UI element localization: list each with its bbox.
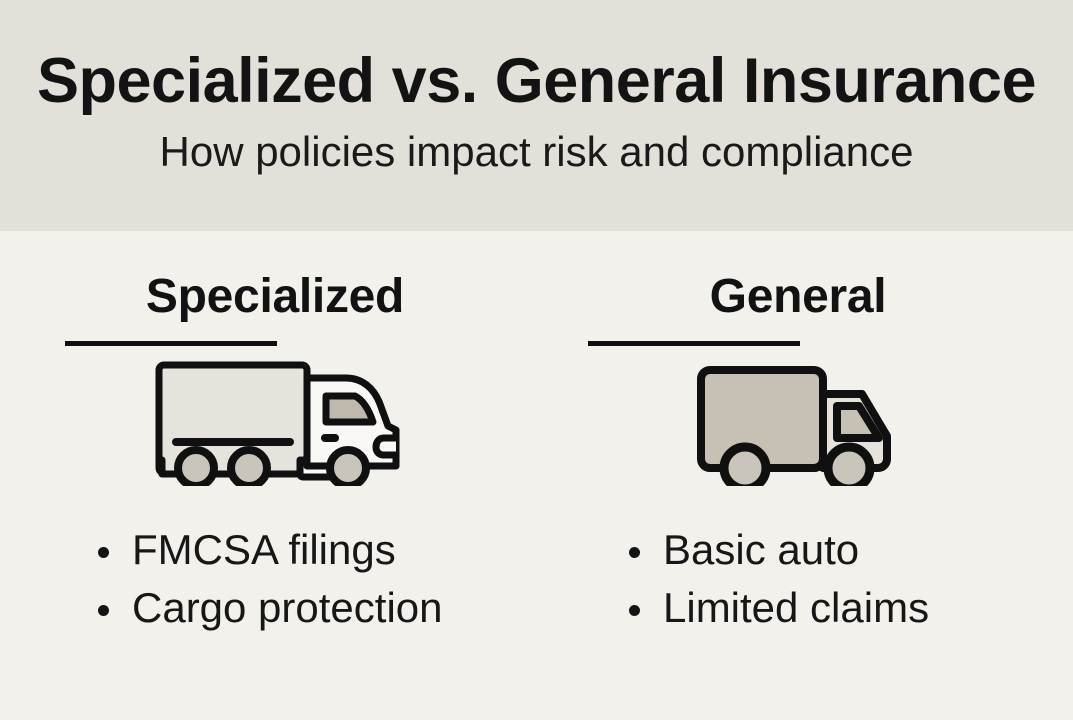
- column-rule-specialized: [65, 341, 277, 346]
- bullet-label: Cargo protection: [132, 584, 443, 631]
- column-general: General: [563, 231, 1033, 720]
- bullet-label: Basic auto: [663, 526, 859, 573]
- list-item: Cargo protection: [90, 579, 510, 637]
- column-heading-specialized: Specialized: [40, 273, 510, 321]
- bullet-dot-icon: [98, 547, 109, 558]
- bullet-list-general: Basic auto Limited claims: [621, 521, 1041, 637]
- infographic-page: Specialized vs. General Insurance How po…: [0, 0, 1073, 720]
- list-item: Basic auto: [621, 521, 1041, 579]
- list-item: FMCSA filings: [90, 521, 510, 579]
- header-band: Specialized vs. General Insurance How po…: [0, 0, 1073, 231]
- column-rule-general: [588, 341, 800, 346]
- page-subtitle: How policies impact risk and compliance: [0, 131, 1073, 173]
- bullet-dot-icon: [629, 547, 640, 558]
- page-title: Specialized vs. General Insurance: [0, 50, 1073, 113]
- bullet-list-specialized: FMCSA filings Cargo protection: [90, 521, 510, 637]
- bullet-label: FMCSA filings: [132, 526, 396, 573]
- comparison-columns: Specialized: [0, 231, 1073, 720]
- list-item: Limited claims: [621, 579, 1041, 637]
- column-specialized: Specialized: [40, 231, 510, 720]
- bullet-dot-icon: [98, 605, 109, 616]
- bullet-label: Limited claims: [663, 584, 929, 631]
- column-heading-general: General: [563, 273, 1033, 321]
- bullet-dot-icon: [629, 605, 640, 616]
- semi-box-truck-icon: [40, 356, 510, 496]
- delivery-truck-icon: [563, 356, 1033, 496]
